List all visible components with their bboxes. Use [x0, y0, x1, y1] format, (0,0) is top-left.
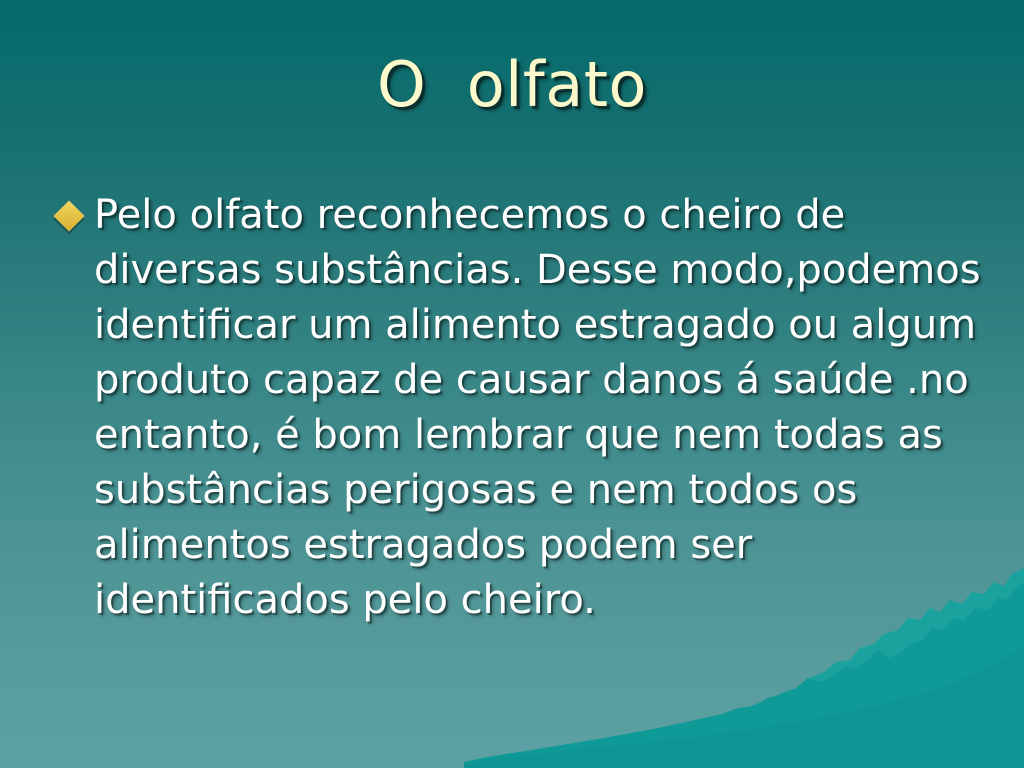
presentation-slide: O olfato Pelo olfato reconhecemos o chei… — [0, 0, 1024, 768]
slide-body-block: Pelo olfato reconhecemos o cheiro de div… — [58, 188, 988, 628]
page-title: O olfato — [377, 52, 647, 117]
mountain-foreground-bump — [464, 646, 1024, 768]
list-item: Pelo olfato reconhecemos o cheiro de div… — [58, 188, 988, 628]
slide-title-block: O olfato — [0, 52, 1024, 117]
bullet-item-text: Pelo olfato reconhecemos o cheiro de div… — [94, 188, 988, 628]
diamond-bullet-icon — [53, 200, 84, 231]
